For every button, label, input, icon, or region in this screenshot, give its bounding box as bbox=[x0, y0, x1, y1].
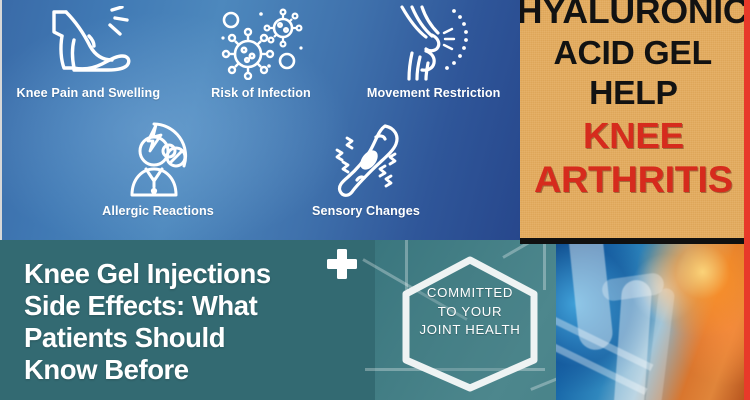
screenshot-canvas: Knee Pain and Swelling bbox=[0, 0, 750, 400]
poster-line-5: ARTHRITIS bbox=[534, 161, 733, 198]
article-title: Knee Gel Injections Side Effects: What P… bbox=[24, 258, 344, 386]
infographic-item-label: Risk of Infection bbox=[211, 86, 311, 100]
poster-text-stack: HYALURONIC ACID GEL HELP KNEE ARTHRITIS bbox=[520, 0, 746, 198]
infographic-item-sensory: Sensory Changes bbox=[262, 120, 470, 218]
infographic-item-infection: Risk of Infection bbox=[175, 4, 348, 100]
virus-particles-icon bbox=[217, 4, 305, 82]
poster-line-4: KNEE bbox=[583, 118, 684, 154]
medical-plus-icon bbox=[327, 249, 357, 279]
infographic-item-label: Knee Pain and Swelling bbox=[17, 86, 161, 100]
article-title-line-3: Patients Should bbox=[24, 322, 344, 354]
infographic-row-bottom: Allergic Reactions bbox=[54, 120, 470, 218]
infographic-item-label: Movement Restriction bbox=[367, 86, 501, 100]
hexagon-badge-text: COMMITTED TO YOUR JOINT HEALTH bbox=[398, 284, 542, 340]
badge-line-3: JOINT HEALTH bbox=[398, 321, 542, 340]
poster-line-2: ACID GEL bbox=[554, 36, 712, 69]
side-effects-infographic-panel: Knee Pain and Swelling bbox=[0, 0, 520, 240]
poster-line-3: HELP bbox=[589, 76, 678, 109]
badge-line-2: TO YOUR bbox=[398, 303, 542, 322]
article-title-line-2: Side Effects: What bbox=[24, 290, 344, 322]
infographic-row-top: Knee Pain and Swelling bbox=[2, 4, 520, 100]
hyaluronic-acid-poster-panel: HYALURONIC ACID GEL HELP KNEE ARTHRITIS bbox=[520, 0, 746, 238]
infographic-item-movement: Movement Restriction bbox=[347, 4, 520, 100]
knee-joint-limited-motion-icon bbox=[392, 4, 476, 82]
infographic-item-knee-pain: Knee Pain and Swelling bbox=[2, 4, 175, 100]
knee-anatomy-image bbox=[556, 240, 744, 400]
article-title-line-1: Knee Gel Injections bbox=[24, 258, 344, 290]
leg-tingling-icon bbox=[323, 120, 409, 198]
bent-leg-pain-icon bbox=[42, 4, 134, 82]
poster-bottom-black-bar bbox=[520, 238, 746, 244]
person-allergic-alert-icon bbox=[118, 120, 198, 198]
infographic-item-allergic: Allergic Reactions bbox=[54, 120, 262, 218]
infographic-item-label: Sensory Changes bbox=[312, 204, 420, 218]
infographic-item-label: Allergic Reactions bbox=[102, 204, 214, 218]
right-red-edge-stripe bbox=[744, 0, 750, 400]
article-title-line-4: Know Before bbox=[24, 354, 344, 386]
poster-line-1: HYALURONIC bbox=[520, 0, 746, 29]
badge-line-1: COMMITTED bbox=[398, 284, 542, 303]
